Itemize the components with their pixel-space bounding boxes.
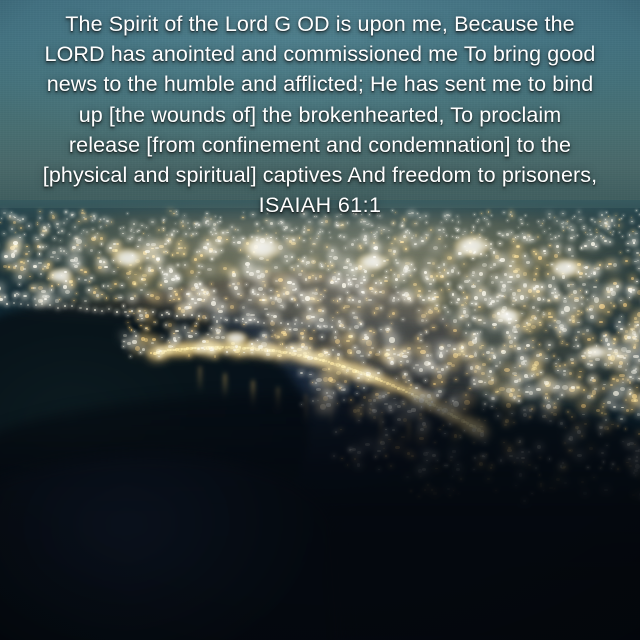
verse-line-4: up [the wounds of] the brokenhearted, To…	[30, 100, 610, 130]
verse-line-1: The Spirit of the Lord G OD is upon me, …	[30, 9, 610, 39]
verse-line-3: news to the humble and afflicted; He has…	[30, 69, 610, 99]
scripture-image: The Spirit of the Lord G OD is upon me, …	[0, 0, 640, 640]
verse-line-2: LORD has anointed and commissioned me To…	[30, 39, 610, 69]
verse-line-5: release [from confinement and condemnati…	[30, 130, 610, 160]
verse-line-6: [physical and spiritual] captives And fr…	[30, 160, 610, 190]
verse-reference: ISAIAH 61:1	[30, 190, 610, 220]
verse-text-block: The Spirit of the Lord G OD is upon me, …	[0, 0, 640, 220]
